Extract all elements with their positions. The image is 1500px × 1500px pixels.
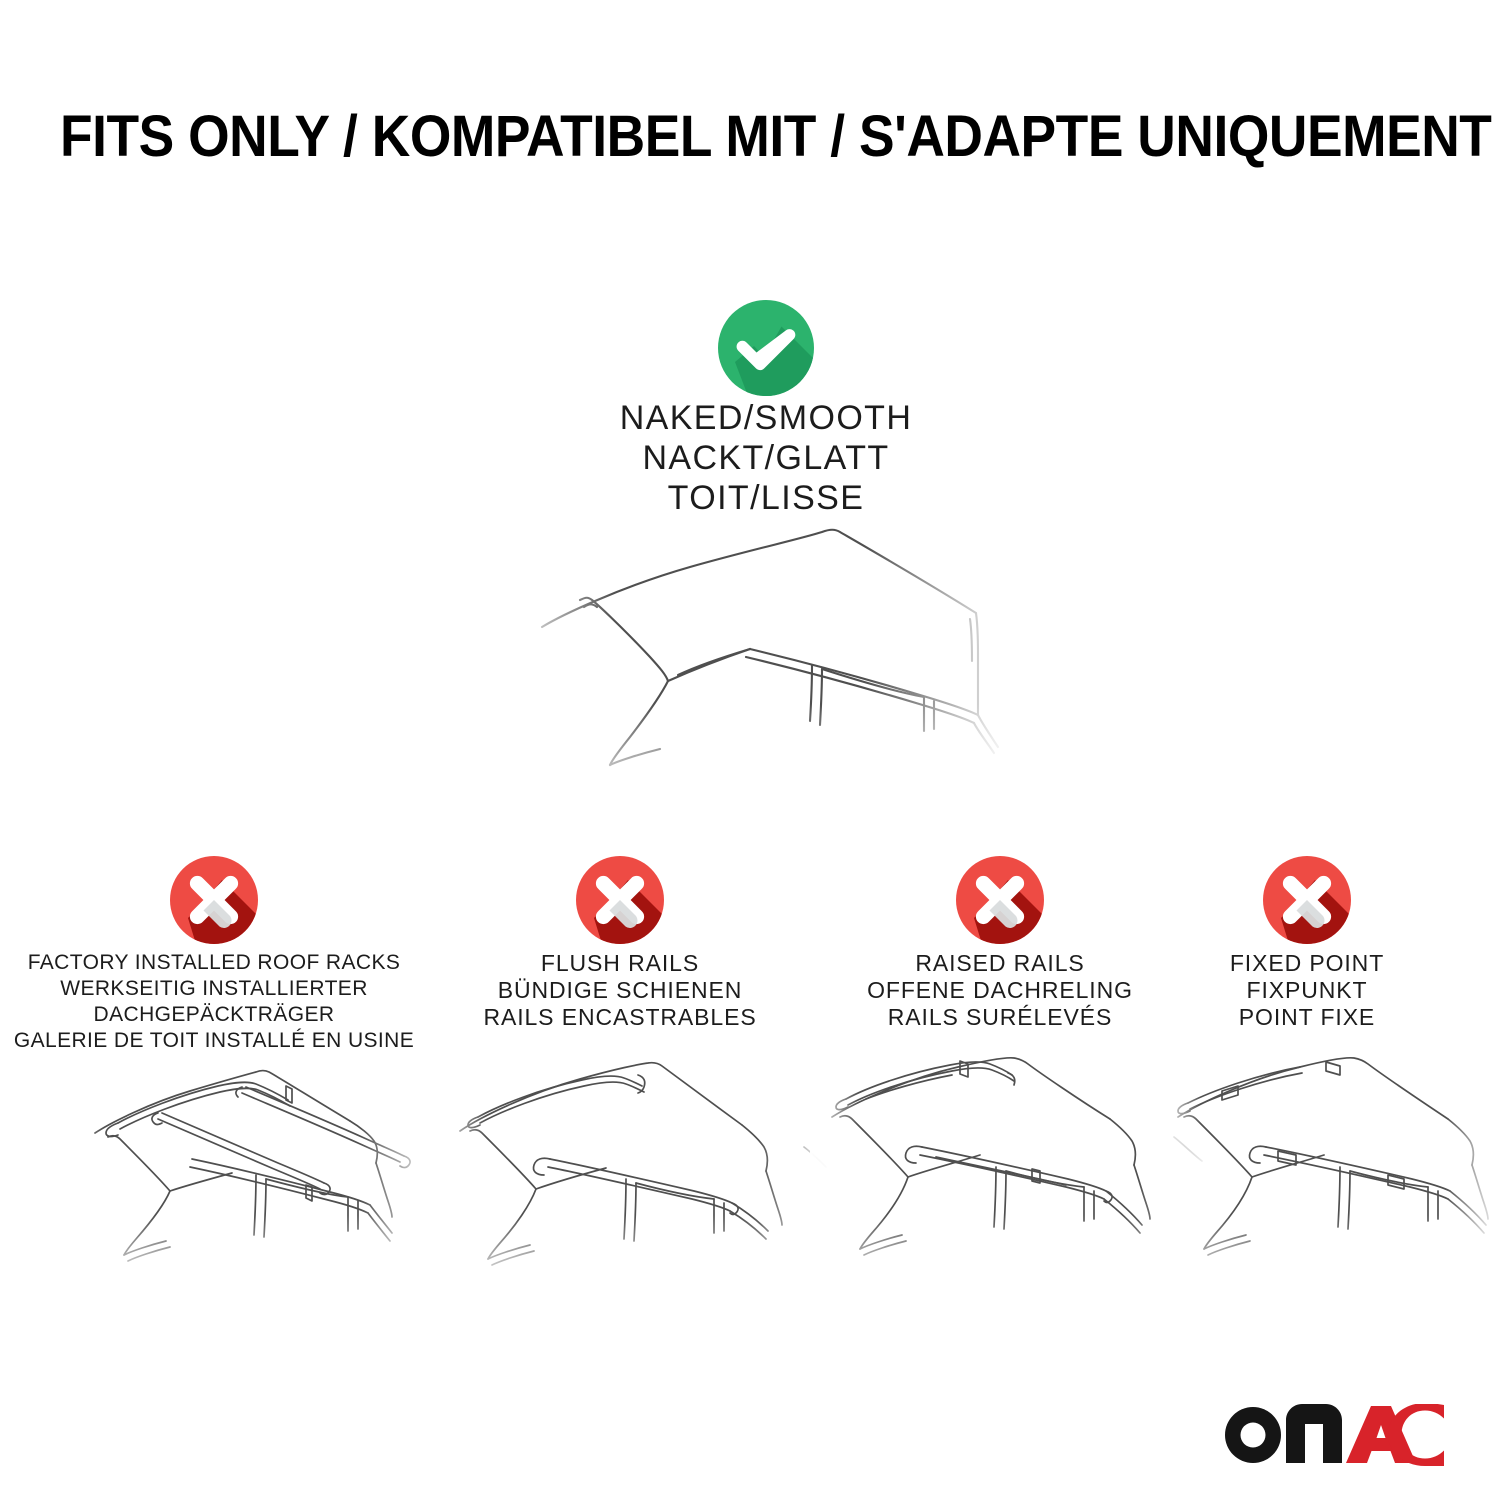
cross-circle-icon <box>1263 856 1351 944</box>
label-line: FLUSH RAILS <box>430 950 810 977</box>
car-roof-naked-smooth-drawing <box>500 515 1020 805</box>
label-line: DACHGEPÄCKTRÄGER <box>4 1002 424 1028</box>
omac-logo <box>1222 1404 1444 1466</box>
label-line: FIXED POINT <box>1117 950 1497 977</box>
label-line: FIXPUNKT <box>1117 977 1497 1004</box>
cross-circle-icon <box>576 856 664 944</box>
label-line: FACTORY INSTALLED ROOF RACKS <box>4 950 424 976</box>
incompatible-label-fixed-point: FIXED POINT FIXPUNKT POINT FIXE <box>1117 950 1497 1031</box>
compatible-label-line-1: NAKED/SMOOTH <box>516 398 1016 438</box>
car-roof-raised-rails-drawing <box>810 1055 1210 1290</box>
label-line: GALERIE DE TOIT INSTALLÉ EN USINE <box>4 1028 424 1054</box>
label-line: BÜNDIGE SCHIENEN <box>430 977 810 1004</box>
compatible-label-line-3: TOIT/LISSE <box>516 478 1016 518</box>
label-line: RAILS ENCASTRABLES <box>430 1004 810 1031</box>
car-roof-factory-rack-drawing <box>40 1055 440 1290</box>
cross-circle-icon <box>956 856 1044 944</box>
page-title: FITS ONLY / KOMPATIBEL MIT / S'ADAPTE UN… <box>60 104 1440 170</box>
compatible-label-line-2: NACKT/GLATT <box>516 438 1016 478</box>
label-line: WERKSEITIG INSTALLIERTER <box>4 976 424 1002</box>
compatible-label: NAKED/SMOOTH NACKT/GLATT TOIT/LISSE <box>516 398 1016 518</box>
check-circle-icon <box>718 300 814 396</box>
car-roof-fixed-point-drawing <box>1160 1055 1500 1290</box>
incompatible-label-factory-installed-roof-racks: FACTORY INSTALLED ROOF RACKS WERKSEITIG … <box>4 950 424 1054</box>
cross-circle-icon <box>170 856 258 944</box>
fitment-compatibility-infographic: FITS ONLY / KOMPATIBEL MIT / S'ADAPTE UN… <box>0 0 1500 1500</box>
car-roof-flush-rails-drawing <box>430 1055 830 1290</box>
incompatible-label-flush-rails: FLUSH RAILS BÜNDIGE SCHIENEN RAILS ENCAS… <box>430 950 810 1031</box>
label-line: POINT FIXE <box>1117 1004 1497 1031</box>
